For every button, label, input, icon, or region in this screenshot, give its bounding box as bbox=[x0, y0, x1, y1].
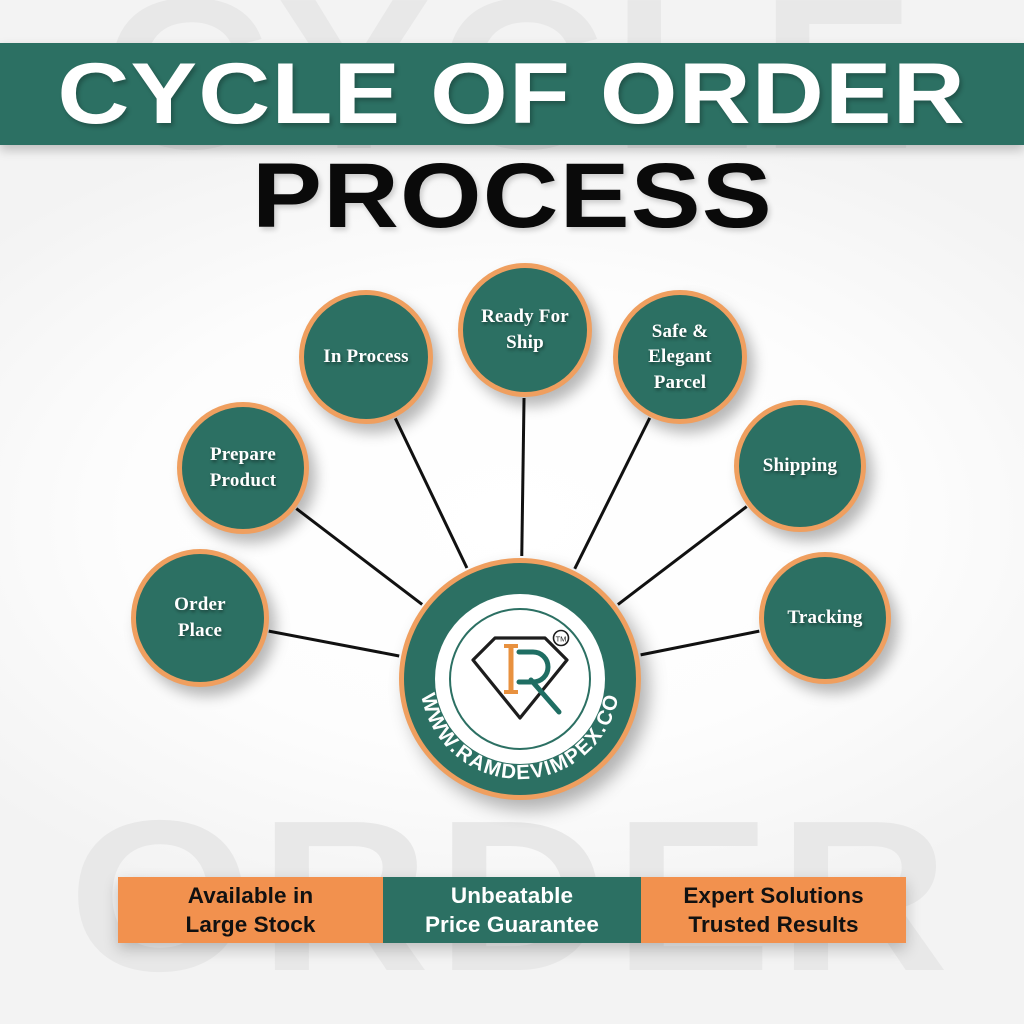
banner-segment-expert-solutions: Expert SolutionsTrusted Results bbox=[641, 877, 906, 943]
infographic-canvas: CYCLE ORDER CYCLE OF ORDER PROCESS Order… bbox=[0, 0, 1024, 1024]
process-node-order-place[interactable]: OrderPlace bbox=[131, 549, 269, 687]
title-banner: CYCLE OF ORDER bbox=[0, 43, 1024, 145]
process-node-label: Safe & ElegantParcel bbox=[618, 319, 742, 396]
process-node-label: Ready ForShip bbox=[473, 304, 577, 355]
banner-segment-line2: Trusted Results bbox=[688, 910, 858, 939]
bottom-feature-banner: Available inLarge StockUnbeatablePrice G… bbox=[118, 877, 906, 943]
banner-segment-available-stock: Available inLarge Stock bbox=[118, 877, 383, 943]
connector-line-prepare-product bbox=[296, 509, 422, 605]
center-logo-badge[interactable]: WWW.RAMDEVIMPEX.CO TM bbox=[399, 558, 641, 800]
process-node-in-process[interactable]: In Process bbox=[299, 290, 433, 424]
trademark-label: TM bbox=[556, 635, 567, 644]
banner-segment-line1: Expert Solutions bbox=[683, 881, 863, 910]
subtitle-wrap: PROCESS bbox=[0, 150, 1024, 242]
connector-line-shipping bbox=[618, 507, 747, 605]
process-node-tracking[interactable]: Tracking bbox=[759, 552, 891, 684]
monogram-bowl bbox=[519, 652, 548, 682]
logo-monogram: TM bbox=[449, 608, 591, 750]
connector-line-tracking bbox=[641, 631, 760, 655]
process-node-prepare-product[interactable]: PrepareProduct bbox=[177, 402, 309, 534]
connector-line-ready-for-ship bbox=[522, 398, 524, 556]
process-node-label: PrepareProduct bbox=[202, 442, 285, 493]
process-node-label: In Process bbox=[315, 344, 417, 370]
process-node-ready-for-ship[interactable]: Ready ForShip bbox=[458, 263, 592, 397]
process-node-shipping[interactable]: Shipping bbox=[734, 400, 866, 532]
banner-segment-line2: Large Stock bbox=[186, 910, 316, 939]
banner-segment-line2: Price Guarantee bbox=[425, 910, 599, 939]
process-node-label: Shipping bbox=[755, 453, 846, 479]
page-subtitle: PROCESS bbox=[252, 150, 773, 242]
connector-line-safe-elegant-parcel bbox=[575, 418, 650, 569]
banner-segment-line1: Available in bbox=[188, 881, 313, 910]
page-title: CYCLE OF ORDER bbox=[58, 51, 967, 137]
process-node-label: OrderPlace bbox=[166, 592, 234, 643]
connector-line-order-place bbox=[269, 631, 399, 656]
banner-segment-line1: Unbeatable bbox=[451, 881, 573, 910]
connector-line-in-process bbox=[395, 418, 467, 568]
process-node-safe-elegant-parcel[interactable]: Safe & ElegantParcel bbox=[613, 290, 747, 424]
banner-segment-price-guarantee: UnbeatablePrice Guarantee bbox=[383, 877, 641, 943]
process-node-label: Tracking bbox=[779, 605, 870, 631]
